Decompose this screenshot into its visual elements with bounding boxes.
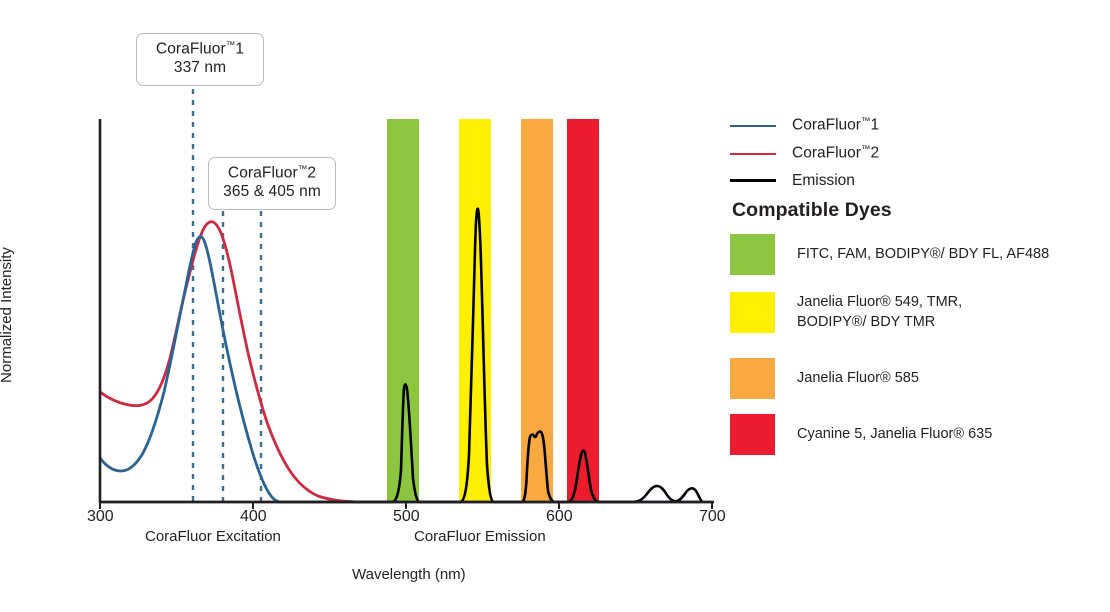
dye-item-yellow: Janelia Fluor® 549, TMR, BODIPY®/ BDY TM… — [730, 292, 962, 333]
legend-label-corafluor2: CoraFluor™2 — [792, 144, 879, 162]
dye-swatch-green — [730, 234, 775, 275]
callout-corafluor1: CoraFluor™1 337 nm — [136, 33, 264, 86]
x-tick-label-600: 600 — [546, 508, 573, 526]
dye-label-orange-line1: Janelia Fluor® 585 — [797, 370, 919, 386]
dye-item-green: FITC, FAM, BODIPY®/ BDY FL, AF488 — [730, 234, 1049, 275]
excitation-marker-lines — [193, 89, 261, 502]
dye-label-yellow: Janelia Fluor® 549, TMR, BODIPY®/ BDY TM… — [797, 293, 962, 332]
fluorescence-spectra-figure: CoraFluor™1 337 nm CoraFluor™2 365 & 405… — [0, 0, 1110, 612]
curve-legend: CoraFluor™1 CoraFluor™2 Emission — [730, 112, 1110, 194]
x-tick-label-400: 400 — [240, 508, 267, 526]
legend-line-swatch-emission — [730, 179, 776, 182]
x-tick-label-700: 700 — [699, 508, 726, 526]
dye-swatch-orange — [730, 358, 775, 399]
trademark-symbol: ™ — [861, 116, 871, 127]
dye-label-red: Cyanine 5, Janelia Fluor® 635 — [797, 425, 992, 444]
dye-item-orange: Janelia Fluor® 585 — [730, 358, 919, 399]
plot-area: CoraFluor™1 337 nm CoraFluor™2 365 & 405… — [0, 0, 740, 612]
dye-label-yellow-line1: Janelia Fluor® 549, TMR, — [797, 294, 962, 310]
trademark-symbol: ™ — [298, 164, 308, 175]
dye-label-green: FITC, FAM, BODIPY®/ BDY FL, AF488 — [797, 245, 1049, 264]
callout-corafluor2-value: 365 & 405 nm — [219, 183, 325, 202]
compatible-dyes-heading: Compatible Dyes — [732, 199, 892, 222]
dye-item-red: Cyanine 5, Janelia Fluor® 635 — [730, 414, 992, 455]
dye-label-orange: Janelia Fluor® 585 — [797, 369, 919, 388]
trademark-symbol: ™ — [226, 40, 236, 51]
band-orange — [521, 119, 553, 502]
callout-corafluor1-value: 337 nm — [147, 59, 253, 78]
dye-bands — [387, 119, 599, 502]
callout-corafluor1-title: CoraFluor™1 — [147, 40, 253, 59]
legend-item-corafluor1: CoraFluor™1 — [730, 112, 1110, 139]
legend-label-corafluor1: CoraFluor™1 — [792, 116, 879, 134]
legend-label-emission: Emission — [792, 172, 855, 190]
legend-panel: CoraFluor™1 CoraFluor™2 Emission Compati… — [730, 0, 1110, 612]
dye-label-green-line1: FITC, FAM, BODIPY®/ BDY FL, AF488 — [797, 246, 1049, 262]
callout-corafluor2-title: CoraFluor™2 — [219, 164, 325, 183]
emission-region-label: CoraFluor Emission — [414, 528, 546, 545]
dye-swatch-yellow — [730, 292, 775, 333]
legend-line-swatch-corafluor1 — [730, 125, 776, 127]
x-tick-label-500: 500 — [393, 508, 420, 526]
legend-item-emission: Emission — [730, 167, 1110, 194]
dye-label-yellow-line2: BODIPY®/ BDY TMR — [797, 314, 935, 330]
dye-label-red-line1: Cyanine 5, Janelia Fluor® 635 — [797, 426, 992, 442]
excitation-region-label: CoraFluor Excitation — [145, 528, 281, 545]
legend-item-corafluor2: CoraFluor™2 — [730, 140, 1110, 167]
band-red — [567, 119, 599, 502]
callout-corafluor2: CoraFluor™2 365 & 405 nm — [208, 157, 336, 210]
dye-swatch-red — [730, 414, 775, 455]
trademark-symbol: ™ — [861, 144, 871, 155]
x-axis-title: Wavelength (nm) — [352, 566, 466, 583]
legend-line-swatch-corafluor2 — [730, 153, 776, 155]
y-axis-title: Normalized Intensity — [0, 240, 15, 390]
x-tick-label-300: 300 — [87, 508, 114, 526]
